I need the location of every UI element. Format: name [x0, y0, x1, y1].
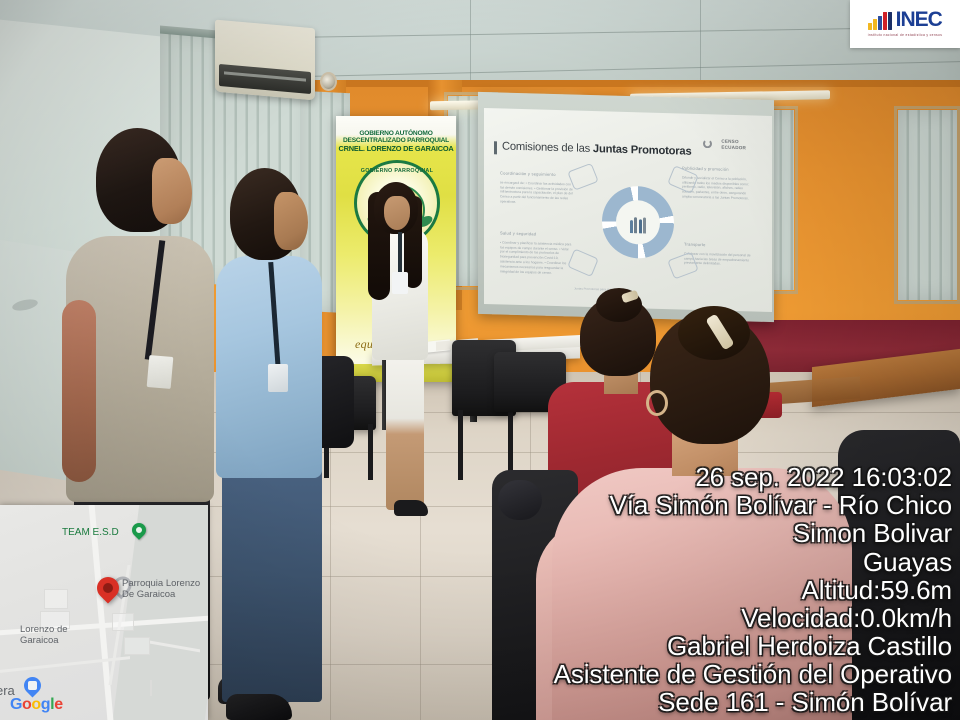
air-conditioner — [215, 20, 315, 101]
map-label-team-esd: TEAM E.S.D — [62, 527, 119, 539]
censo-brand: CENSO ECUADOR — [721, 139, 746, 151]
google-letter: G — [10, 696, 22, 713]
id-badge — [268, 364, 288, 392]
inec-subtitle: instituto nacional de estadística y cens… — [868, 33, 942, 37]
map-label-parroquia: Parroquia Lorenzo De Garaicoa — [122, 579, 200, 601]
censo-logo-icon — [703, 139, 712, 148]
google-letter: e — [54, 696, 63, 713]
donut-center-people-icon — [616, 200, 660, 245]
slide-section-heading: Transporte — [684, 242, 758, 250]
map-label-lorenzo: Lorenzo de Garaicoa — [20, 625, 68, 647]
inec-logo: INEC instituto nacional de estadística y… — [850, 0, 960, 48]
chair-armrest — [498, 480, 542, 520]
censo-brand-line2: ECUADOR — [721, 144, 746, 150]
map-block — [112, 613, 134, 631]
shoe — [394, 500, 428, 516]
id-badge — [147, 355, 174, 389]
chair-leg — [368, 424, 373, 480]
wall-speaker — [320, 72, 337, 91]
map-block — [44, 589, 68, 609]
slide-title-plain: Comisiones de las — [502, 140, 593, 155]
banner-heading: GOBIERNO AUTÓNOMO DESCENTRALIZADO PARROQ… — [336, 130, 456, 153]
banner-line1: GOBIERNO AUTÓNOMO — [336, 130, 456, 137]
map-inset[interactable]: TEAM E.S.D Parroquia Lorenzo De Garaicoa… — [0, 505, 208, 720]
google-maps-pin-icon — [20, 673, 44, 697]
slide-section-coordinacion: Coordinación y seguimiento se encargará … — [500, 170, 574, 208]
arm — [62, 300, 96, 482]
gps-site: Sede 161 - Simón Bolívar — [554, 688, 952, 716]
slide-title-bold: Juntas Promotoras — [593, 143, 692, 158]
inec-logo-row: INEC — [868, 11, 942, 30]
google-wordmark: Google — [10, 696, 63, 714]
gps-person-role: Asistente de Gestión del Operativo — [554, 660, 952, 688]
gps-street: Vía Simón Bolívar - Río Chico — [554, 491, 952, 519]
map-block — [124, 637, 150, 655]
ac-vent — [219, 64, 311, 94]
window-frame — [894, 106, 960, 304]
projector-screen: Comisiones de las Juntas Promotoras CENS… — [484, 108, 772, 312]
gps-altitude: Altitud:59.6m — [554, 576, 952, 604]
slide-donut-diagram — [602, 185, 674, 259]
earring — [646, 390, 668, 416]
slide-section-heading: Coordinación y seguimiento — [500, 170, 574, 178]
photo-canvas: Comisiones de las Juntas Promotoras CENS… — [0, 0, 960, 720]
gps-province: Guayas — [554, 548, 952, 576]
banner-line3: CRNEL. LORENZO DE GARAICOA — [336, 145, 456, 153]
gps-person-name: Gabriel Herdoiza Castillo — [554, 632, 952, 660]
jeans — [222, 456, 322, 702]
id-badge — [392, 272, 408, 294]
legs — [386, 352, 424, 510]
chair-leg — [458, 410, 463, 480]
gps-stamp-overlay: 26 sep. 2022 16:03:02 Vía Simón Bolívar … — [554, 463, 952, 716]
gps-datetime: 26 sep. 2022 16:03:02 — [554, 463, 952, 491]
face — [274, 192, 308, 250]
map-block — [150, 680, 152, 696]
gps-speed: Velocidad:0.0km/h — [554, 604, 952, 632]
shoe — [226, 694, 292, 720]
slide-section-body: se encargará de: • Coordinar las activid… — [500, 180, 574, 206]
google-letter: o — [31, 696, 40, 713]
banner-seal-text: GOBIERNO PARROQUIAL — [357, 168, 437, 174]
lanyard — [398, 232, 402, 276]
slide-section-heading: Salud y seguridad — [500, 230, 574, 238]
slide-section-body: • Coordinar y planificar la asistencia m… — [500, 240, 574, 275]
google-letter: g — [41, 696, 50, 713]
banner-line2: DESCENTRALIZADO PARROQUIAL — [336, 137, 456, 144]
face — [384, 196, 410, 230]
face — [152, 158, 192, 224]
inec-bars-icon — [868, 12, 892, 30]
slide-section-salud: Salud y seguridad • Coordinar y planific… — [500, 230, 574, 277]
gps-city: Simon Bolivar — [554, 519, 952, 547]
inec-wordmark: INEC — [896, 11, 942, 30]
